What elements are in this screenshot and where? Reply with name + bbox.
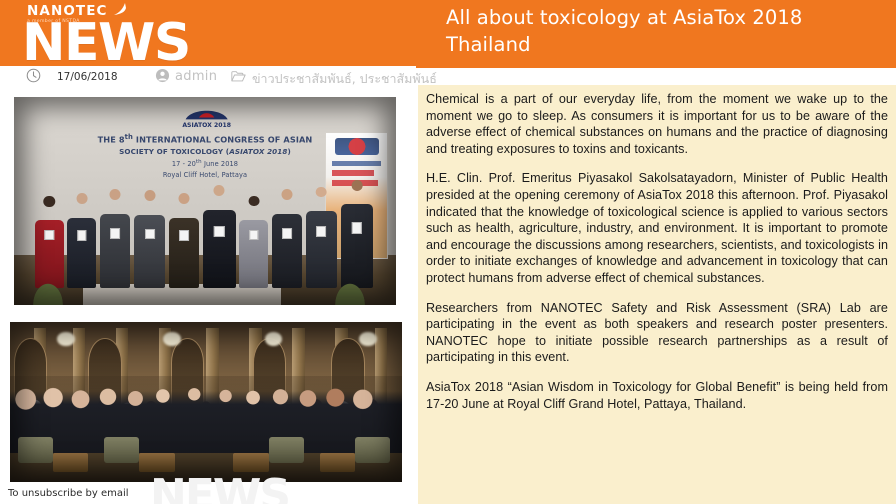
- article-body: Chemical is a part of our everyday life,…: [418, 85, 896, 504]
- page-title: All about toxicology at AsiaTox 2018 Tha…: [446, 4, 886, 58]
- photo-vignette: [14, 97, 396, 305]
- post-categories[interactable]: ข่าวประชาสัมพันธ์, ประชาสัมพันธ์: [252, 69, 437, 89]
- article-paragraph-1: Chemical is a part of our everyday life,…: [426, 91, 888, 157]
- article-paragraph-4: AsiaTox 2018 “Asian Wisdom in Toxicology…: [426, 379, 888, 412]
- folder-icon: [231, 69, 251, 84]
- article-paragraph-2: H.E. Clin. Prof. Emeritus Piyasakol Sako…: [426, 170, 888, 286]
- photo-asiatox-group-on-stage: ASIATOX 2018 THE 8th INTERNATIONAL CONGR…: [14, 97, 396, 305]
- user-icon: [155, 68, 175, 83]
- post-date: 17/06/2018: [57, 71, 118, 83]
- photo-asiatox-delegates-hall: [10, 322, 402, 482]
- unsubscribe-text[interactable]: To unsubscribe by email: [8, 488, 129, 499]
- background-watermark: NEWS: [150, 470, 410, 504]
- clock-icon: [26, 68, 46, 83]
- photo-vignette: [10, 322, 402, 482]
- news-wordmark: NEWS: [22, 17, 190, 69]
- newsletter-page: NANOTEC a member of NSTDA NEWS All about…: [0, 0, 896, 504]
- post-author[interactable]: admin: [175, 69, 217, 84]
- article-paragraph-3: Researchers from NANOTEC Safety and Risk…: [426, 300, 888, 366]
